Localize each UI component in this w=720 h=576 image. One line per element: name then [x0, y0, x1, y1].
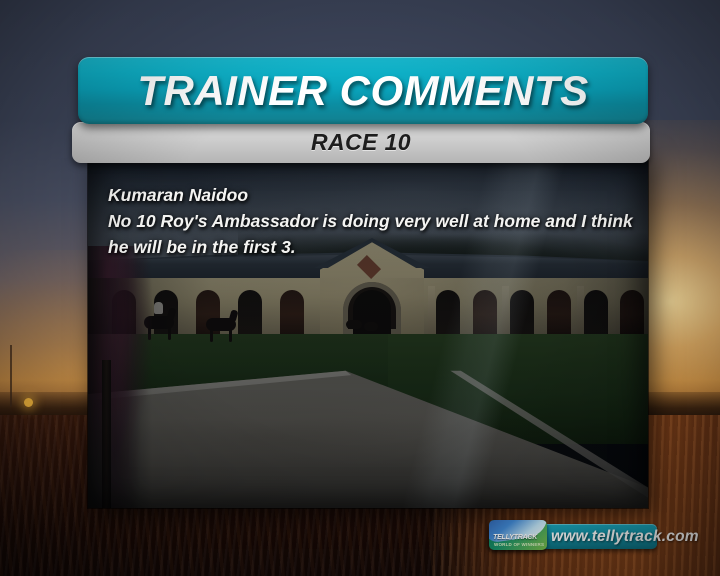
screen-vignette [0, 0, 720, 576]
broadcast-screen: Kumaran Naidoo No 10 Roy's Ambassador is… [0, 0, 720, 576]
